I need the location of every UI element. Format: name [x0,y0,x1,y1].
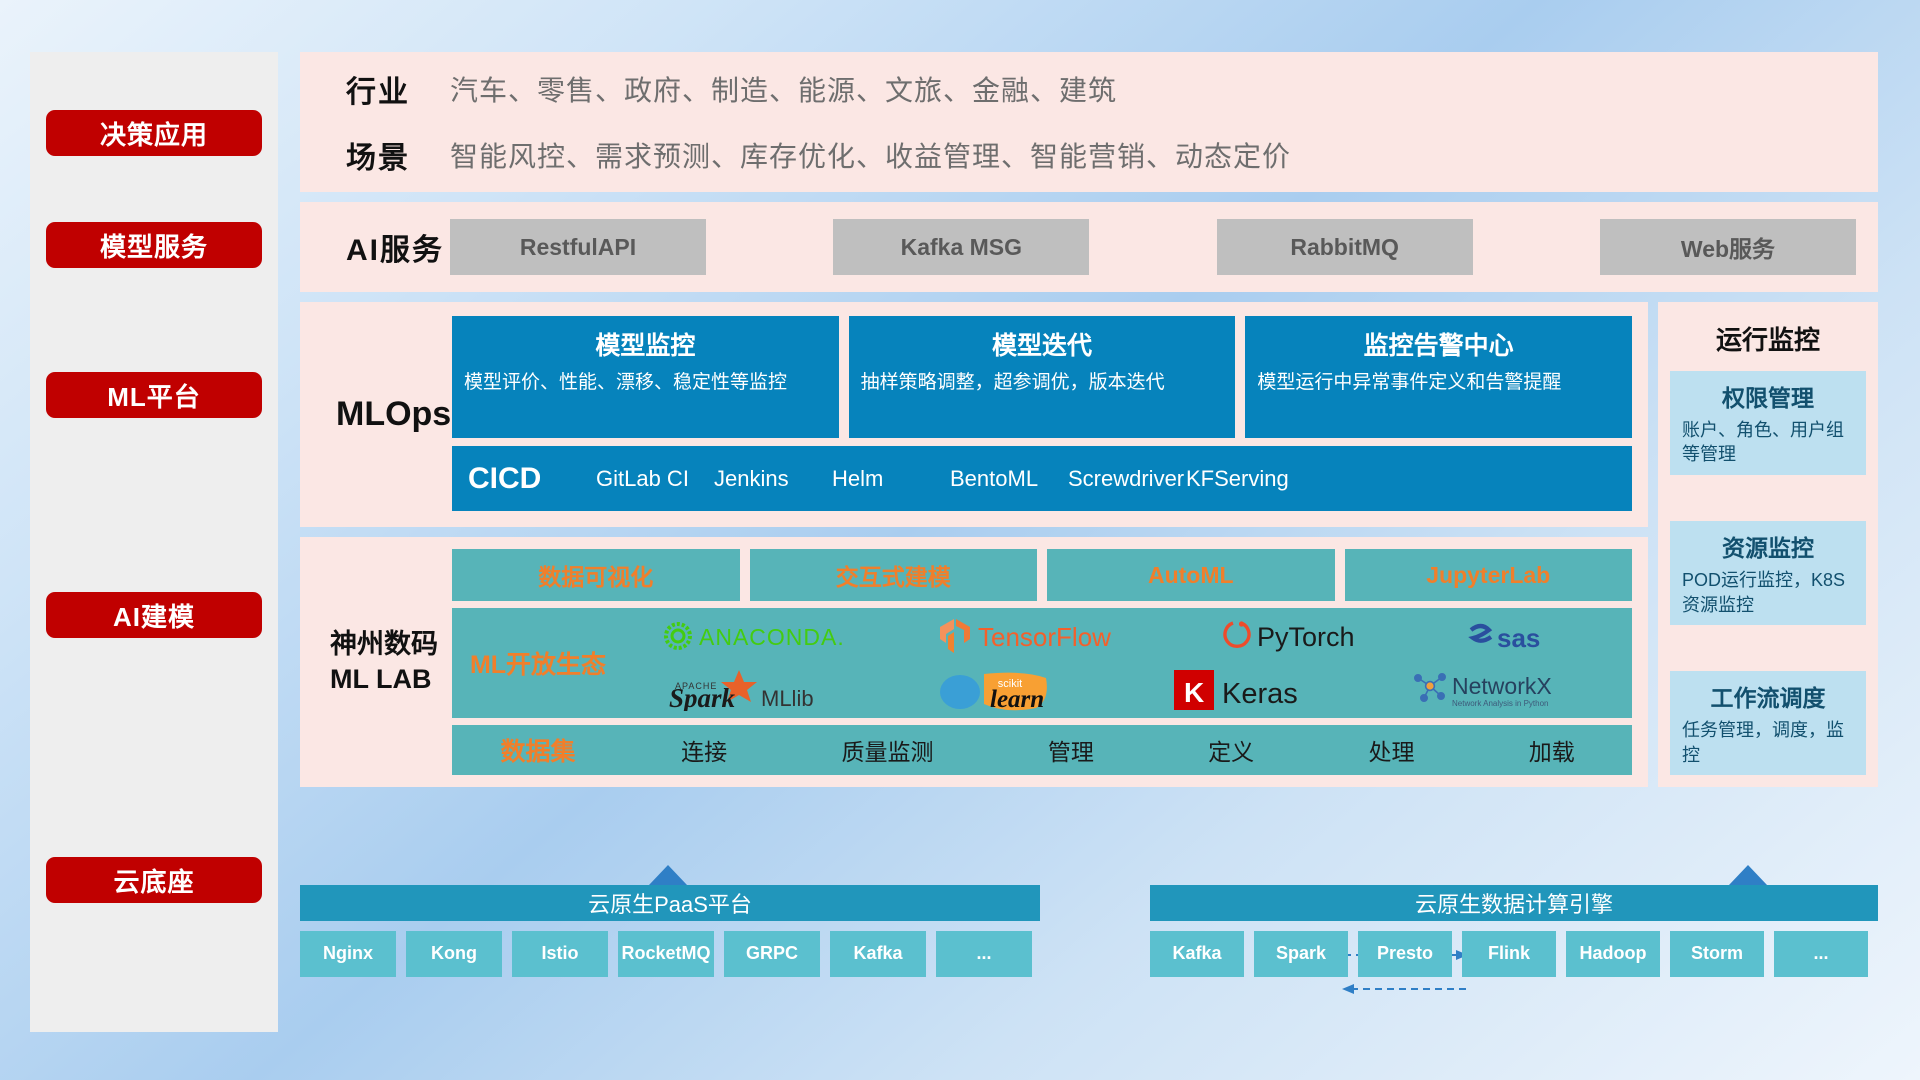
svg-text:Network Analysis in Python: Network Analysis in Python [1452,699,1549,708]
lab-tool-jupyterlab[interactable]: JupyterLab [1345,549,1633,601]
dataset-item-quality[interactable]: 质量监测 [841,733,933,767]
ai-service-chip-restfulapi[interactable]: RestfulAPI [450,219,706,275]
scenario-label: 场景 [318,133,450,177]
paas-chip-istio[interactable]: Istio [512,931,608,977]
scenario-value: 智能风控、需求预测、库存优化、收益管理、智能营销、动态定价 [450,135,1291,175]
card-desc: POD运行监控，K8S资源监控 [1682,568,1854,617]
rail-item-ml-platform[interactable]: ML平台 [46,372,262,418]
cicd-item-helm[interactable]: Helm [832,465,950,493]
ml-lab-band: 神州数码 ML LAB 数据可视化 交互式建模 AutoML JupyterLa… [300,537,1648,787]
card-title: 监控告警中心 [1257,326,1620,362]
paas-chip-kong[interactable]: Kong [406,931,502,977]
card-desc: 账户、角色、用户组等管理 [1682,418,1854,467]
ai-service-chip-rabbitmq[interactable]: RabbitMQ [1217,219,1473,275]
tensorflow-logo: TensorFlow [934,617,1144,655]
dataset-item-load[interactable]: 加载 [1529,733,1575,767]
monitor-card-resource[interactable]: 资源监控 POD运行监控，K8S资源监控 [1670,521,1866,625]
industry-scenario-band: 行业 汽车、零售、政府、制造、能源、文旅、金融、建筑 场景 智能风控、需求预测、… [300,52,1878,192]
compute-chip-hadoop[interactable]: Hadoop [1566,931,1660,977]
monitor-card-workflow[interactable]: 工作流调度 任务管理，调度，监控 [1670,671,1866,775]
card-desc: 抽样策略调整，超参调优，版本迭代 [861,370,1224,396]
svg-text:ANACONDA.: ANACONDA. [699,624,845,650]
svg-text:TensorFlow: TensorFlow [978,622,1111,652]
ml-open-ecosystem-label: ML开放生态 [452,645,624,681]
industry-value: 汽车、零售、政府、制造、能源、文旅、金融、建筑 [450,69,1117,109]
runtime-monitor-panel: 运行监控 权限管理 账户、角色、用户组等管理 资源监控 POD运行监控，K8S资… [1658,302,1878,787]
compute-chip-flink[interactable]: Flink [1462,931,1556,977]
card-title: 模型迭代 [861,326,1224,362]
card-title: 模型监控 [464,326,827,362]
pytorch-logo: PyTorch [1217,617,1392,655]
mlops-band: MLOps 模型监控 模型评价、性能、漂移、稳定性等监控 模型迭代 抽样策略调整… [300,302,1648,527]
scenario-row: 场景 智能风控、需求预测、库存优化、收益管理、智能营销、动态定价 [318,133,1878,177]
mlops-card-model-monitoring[interactable]: 模型监控 模型评价、性能、漂移、稳定性等监控 [452,316,839,438]
left-layer-rail: 决策应用 模型服务 ML平台 AI建模 云底座 [30,52,278,1032]
card-title: 资源监控 [1682,529,1854,563]
cloud-group-compute: 云原生数据计算引擎 Kafka Spark Presto Flink Hadoo… [1150,885,1878,977]
card-title: 工作流调度 [1682,679,1854,713]
paas-chip-nginx[interactable]: Nginx [300,931,396,977]
svg-text:NetworkX: NetworkX [1452,673,1552,699]
svg-text:K: K [1184,677,1204,708]
band-divider-3 [300,527,1648,537]
svg-text:sas: sas [1497,623,1540,653]
networkx-logo: NetworkX Network Analysis in Python [1410,668,1585,712]
svg-text:MLlib: MLlib [761,686,814,711]
band-divider [300,192,1878,202]
runtime-monitor-title: 运行监控 [1670,314,1866,371]
anaconda-logo: ANACONDA. [661,618,861,654]
ai-service-band: AI服务 RestfulAPI Kafka MSG RabbitMQ Web服务 [300,202,1878,292]
cicd-item-bentoml[interactable]: BentoML [950,465,1068,493]
dataset-item-process[interactable]: 处理 [1368,733,1414,767]
paas-chip-more[interactable]: ... [936,931,1032,977]
ml-lab-label-line2: ML LAB [330,662,452,697]
svg-text:PyTorch: PyTorch [1257,622,1355,652]
compute-chip-spark[interactable]: Spark [1254,931,1348,977]
architecture-main: 行业 汽车、零售、政府、制造、能源、文旅、金融、建筑 场景 智能风控、需求预测、… [300,52,1878,787]
dataset-item-connect[interactable]: 连接 [681,733,727,767]
paas-chip-rocketmq[interactable]: RocketMQ [618,931,714,977]
card-desc: 模型运行中异常事件定义和告警提醒 [1257,370,1620,396]
dataset-label: 数据集 [452,732,624,768]
compute-chip-more[interactable]: ... [1774,931,1868,977]
ai-service-chip-web[interactable]: Web服务 [1600,219,1856,275]
cicd-item-jenkins[interactable]: Jenkins [714,465,832,493]
compute-chip-kafka[interactable]: Kafka [1150,931,1244,977]
lab-tool-automl[interactable]: AutoML [1047,549,1335,601]
cloud-group-paas: 云原生PaaS平台 Nginx Kong Istio RocketMQ GRPC… [300,885,1040,977]
mlops-card-model-iteration[interactable]: 模型迭代 抽样策略调整，超参调优，版本迭代 [849,316,1236,438]
paas-chip-grpc[interactable]: GRPC [724,931,820,977]
lab-tool-data-visualization[interactable]: 数据可视化 [452,549,740,601]
monitor-card-permission[interactable]: 权限管理 账户、角色、用户组等管理 [1670,371,1866,475]
cicd-bar: CICD GitLab CI Jenkins Helm BentoML Scre… [452,446,1632,511]
card-title: 权限管理 [1682,379,1854,413]
rail-item-cloud-base[interactable]: 云底座 [46,857,262,903]
mlops-label: MLOps [318,316,452,513]
rail-item-model-service[interactable]: 模型服务 [46,222,262,268]
dataset-item-manage[interactable]: 管理 [1048,733,1094,767]
card-desc: 任务管理，调度，监控 [1682,718,1854,767]
compute-chip-storm[interactable]: Storm [1670,931,1764,977]
svg-text:Spark: Spark [669,683,736,711]
svg-text:learn: learn [990,686,1044,712]
keras-logo: K Keras [1172,668,1337,712]
cicd-item-kfserving[interactable]: KFServing [1186,465,1304,493]
compute-header: 云原生数据计算引擎 [1150,885,1878,921]
dataset-item-define[interactable]: 定义 [1208,733,1254,767]
ai-service-label: AI服务 [318,225,450,269]
industry-label: 行业 [318,67,450,111]
cicd-item-gitlab-ci[interactable]: GitLab CI [596,465,714,493]
scikit-learn-logo: scikit learn [934,668,1099,712]
card-desc: 模型评价、性能、漂移、稳定性等监控 [464,370,827,396]
ml-open-ecosystem: ML开放生态 ANACONDA. [452,608,1632,718]
cloud-base-section: 云原生PaaS平台 Nginx Kong Istio RocketMQ GRPC… [300,885,1878,1050]
rail-item-ai-modeling[interactable]: AI建模 [46,592,262,638]
cicd-item-screwdriver[interactable]: Screwdriver [1068,465,1186,493]
dataset-bar: 数据集 连接 质量监测 管理 定义 处理 加载 [452,725,1632,775]
ml-lab-label: 神州数码 ML LAB [318,549,452,775]
ml-lab-label-line1: 神州数码 [330,627,452,662]
rail-item-decision-app[interactable]: 决策应用 [46,110,262,156]
mlops-card-alert-center[interactable]: 监控告警中心 模型运行中异常事件定义和告警提醒 [1245,316,1632,438]
ai-service-chip-kafka-msg[interactable]: Kafka MSG [833,219,1089,275]
band-divider-2 [300,292,1878,302]
spark-mllib-logo: APACHE Spark MLlib [661,669,861,711]
cicd-label: CICD [468,462,596,496]
svg-text:Keras: Keras [1222,678,1298,710]
paas-header: 云原生PaaS平台 [300,885,1040,921]
compute-chip-presto[interactable]: Presto [1358,931,1452,977]
industry-row: 行业 汽车、零售、政府、制造、能源、文旅、金融、建筑 [318,67,1878,111]
lab-tool-interactive-modeling[interactable]: 交互式建模 [750,549,1038,601]
paas-chip-kafka[interactable]: Kafka [830,931,926,977]
sas-logo: sas [1465,618,1585,654]
